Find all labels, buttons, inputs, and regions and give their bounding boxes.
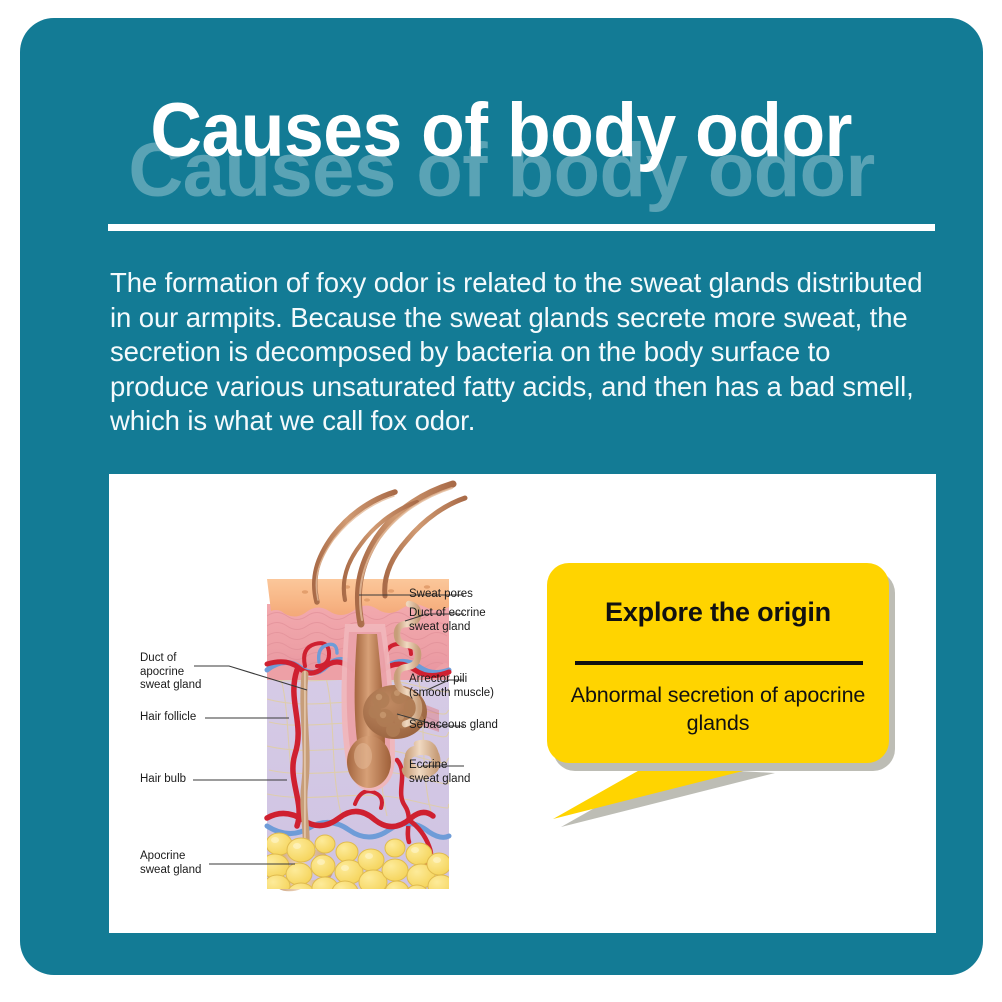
teal-panel: Causes of body odor Causes of body odor … — [20, 18, 983, 975]
diagram-label-sebaceous-gland: Sebaceous gland — [409, 719, 498, 733]
diagram-label-duct-of-eccrine-sweat-gland: Duct of eccrine sweat gland — [409, 607, 486, 634]
page-title: Causes of body odor Causes of body odor — [20, 90, 983, 210]
infographic-root: Causes of body odor Causes of body odor … — [0, 0, 1002, 1002]
diagram-label-hair-follicle: Hair follicle — [140, 711, 196, 725]
diagram-label-duct-of-apocrine-sweat-gland: Duct of apocrine sweat gland — [140, 652, 201, 693]
callout-divider — [575, 661, 863, 665]
callout-bubble: Explore the origin Abnormal secretion of… — [539, 559, 929, 849]
diagram-label-eccrine-sweat-gland: Eccrine sweat gland — [409, 759, 470, 786]
callout-title: Explore the origin — [547, 597, 889, 627]
callout-body: Explore the origin Abnormal secretion of… — [547, 563, 889, 763]
body-paragraph: The formation of foxy odor is related to… — [110, 266, 936, 439]
diagram-label-sweat-pores: Sweat pores — [409, 588, 473, 602]
callout-subtitle: Abnormal secretion of apocrine glands — [547, 681, 889, 737]
media-card: Sweat pores Duct of eccrine sweat gland … — [109, 474, 936, 933]
title-divider — [108, 224, 935, 231]
diagram-label-hair-bulb: Hair bulb — [140, 773, 186, 787]
diagram-label-arrector-pili: Arrector pili (smooth muscle) — [409, 673, 494, 700]
diagram-label-apocrine-sweat-gland: Apocrine sweat gland — [140, 850, 201, 877]
page-title-text: Causes of body odor — [151, 90, 853, 172]
